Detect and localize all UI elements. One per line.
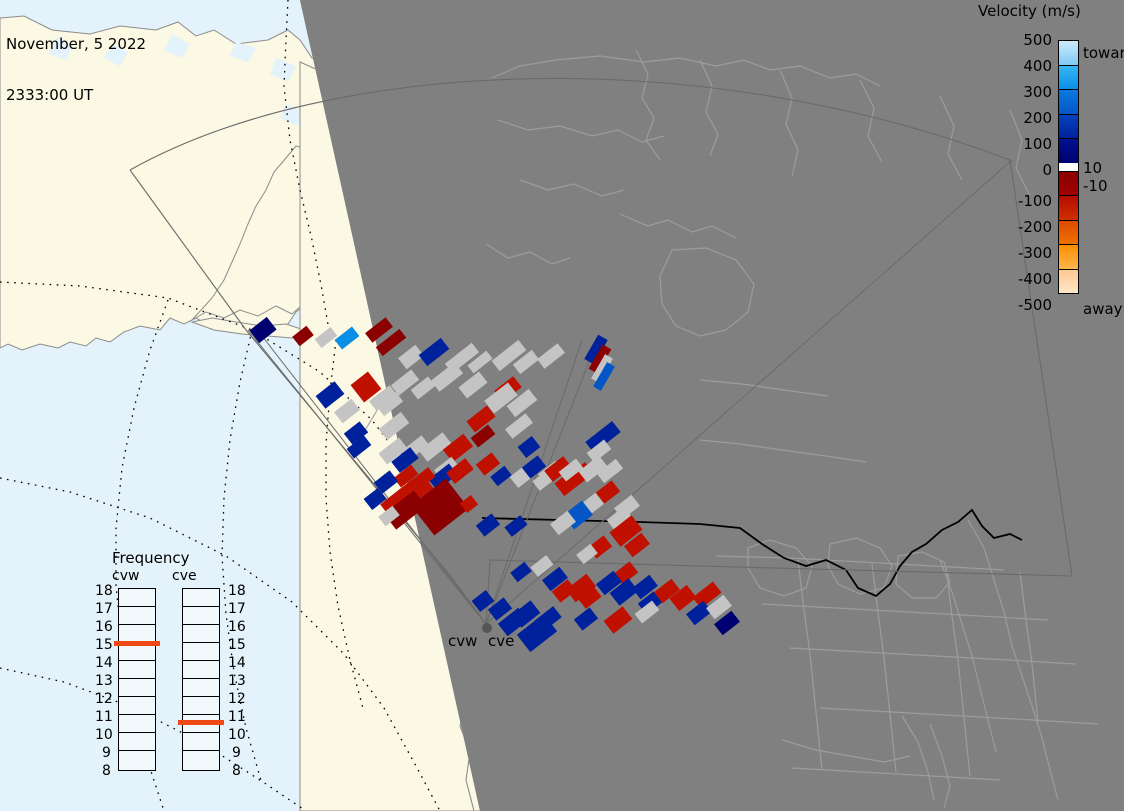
colorbar-segment bbox=[1058, 195, 1079, 221]
colorbar-segment bbox=[1058, 171, 1079, 197]
frequency-legend-title: Frequency bbox=[112, 549, 190, 567]
colorbar-tick: -100 bbox=[1000, 192, 1052, 210]
frequency-bar-cve[interactable] bbox=[182, 588, 220, 771]
freq-tick-cve: 15 bbox=[228, 637, 246, 653]
site-label-cve: cve bbox=[488, 632, 514, 650]
freq-tick-cvw: 12 bbox=[95, 691, 113, 707]
frequency-bar-cvw[interactable] bbox=[118, 588, 156, 771]
radar-map-figure: November, 5 2022 2333:00 UT cvw cve Velo… bbox=[0, 0, 1124, 811]
colorbar-tick: 200 bbox=[1000, 109, 1052, 127]
colorbar-tick: 0 bbox=[1000, 161, 1052, 179]
colorbar-segment bbox=[1058, 220, 1079, 246]
freq-tick-cve: 9 bbox=[232, 745, 241, 761]
colorbar-toward-label: toward bbox=[1083, 44, 1124, 62]
freq-tick-cvw: 15 bbox=[95, 637, 113, 653]
colorbar-segment bbox=[1058, 244, 1079, 270]
freq-tick-cve: 10 bbox=[228, 727, 246, 743]
colorbar-tick: 100 bbox=[1000, 135, 1052, 153]
colorbar-segment bbox=[1058, 114, 1079, 140]
freq-tick-cve: 18 bbox=[228, 583, 246, 599]
colorbar-segment bbox=[1058, 89, 1079, 115]
freq-tick-cvw: 16 bbox=[95, 619, 113, 635]
colorbar-tick: -300 bbox=[1000, 244, 1052, 262]
freq-tick-cvw: 14 bbox=[95, 655, 113, 671]
freq-tick-cve: 14 bbox=[228, 655, 246, 671]
colorbar-segment bbox=[1058, 269, 1079, 295]
colorbar-away-label: away bbox=[1083, 300, 1123, 318]
colorbar-tick: 400 bbox=[1000, 57, 1052, 75]
frequency-column-title-cvw: cvw bbox=[112, 568, 139, 584]
freq-tick-cve: 16 bbox=[228, 619, 246, 635]
freq-tick-cvw: 9 bbox=[102, 745, 111, 761]
colorbar-tick: -400 bbox=[1000, 270, 1052, 288]
colorbar-inner-low-label: -10 bbox=[1083, 177, 1108, 195]
colorbar-inner-high-label: 10 bbox=[1083, 159, 1102, 177]
freq-tick-cvw: 13 bbox=[95, 673, 113, 689]
colorbar-segment bbox=[1058, 138, 1079, 164]
timestamp-date: November, 5 2022 bbox=[6, 36, 146, 53]
site-label-cvw: cvw bbox=[448, 632, 477, 650]
colorbar-title: Velocity (m/s) bbox=[978, 2, 1081, 20]
colorbar-segment bbox=[1058, 65, 1079, 91]
frequency-column-title-cve: cve bbox=[172, 568, 197, 584]
colorbar-tick: -200 bbox=[1000, 218, 1052, 236]
velocity-colorbar[interactable] bbox=[1058, 40, 1079, 321]
freq-tick-cve: 11 bbox=[228, 709, 246, 725]
colorbar-tick: 500 bbox=[1000, 31, 1052, 49]
colorbar-segment bbox=[1058, 40, 1079, 66]
frequency-marker-cve bbox=[178, 720, 224, 725]
freq-tick-cve: 12 bbox=[228, 691, 246, 707]
colorbar-tick: 300 bbox=[1000, 83, 1052, 101]
freq-tick-cve: 17 bbox=[228, 601, 246, 617]
timestamp-block: November, 5 2022 2333:00 UT bbox=[6, 2, 146, 138]
freq-tick-cvw: 17 bbox=[95, 601, 113, 617]
freq-tick-cvw: 8 bbox=[102, 763, 111, 779]
timestamp-time: 2333:00 UT bbox=[6, 87, 146, 104]
freq-tick-cve: 13 bbox=[228, 673, 246, 689]
frequency-marker-cvw bbox=[114, 641, 160, 646]
freq-tick-cvw: 10 bbox=[95, 727, 113, 743]
colorbar-tick: -500 bbox=[1000, 296, 1052, 314]
freq-tick-cve: 8 bbox=[232, 763, 241, 779]
freq-tick-cvw: 11 bbox=[95, 709, 113, 725]
freq-tick-cvw: 18 bbox=[95, 583, 113, 599]
map-canvas[interactable] bbox=[0, 0, 1124, 811]
